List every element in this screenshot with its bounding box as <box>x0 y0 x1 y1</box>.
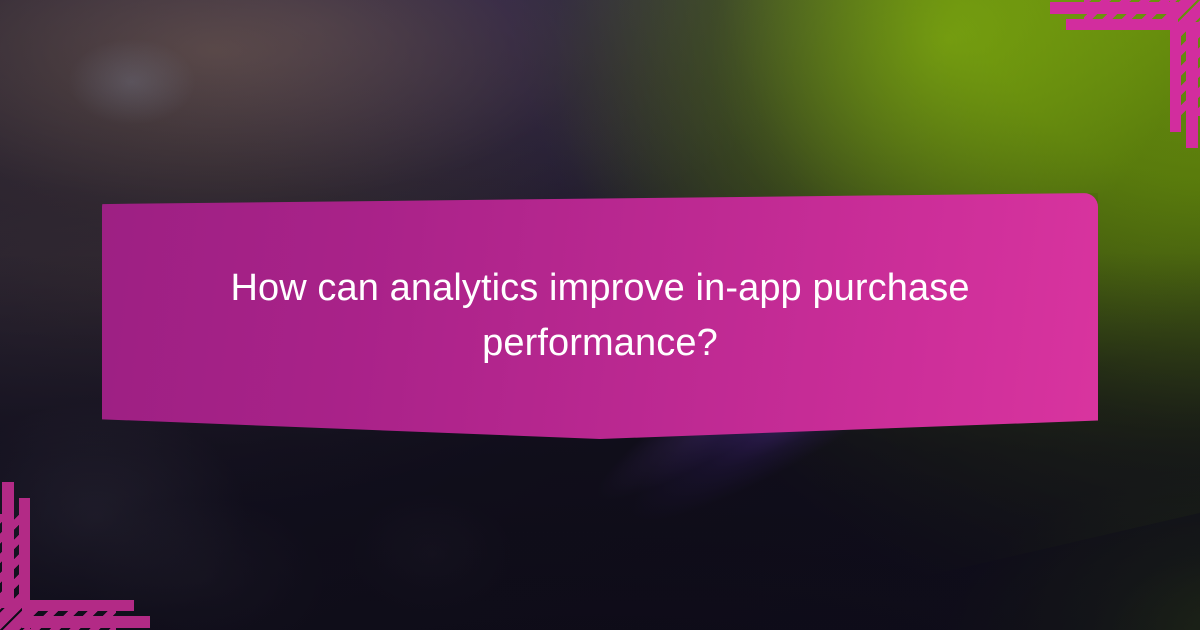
question-banner: How can analytics improve in-app purchas… <box>102 193 1098 439</box>
corner-bracket-top-right-icon <box>1040 0 1200 148</box>
bracket-bar-vertical-inner <box>19 498 30 608</box>
corner-bracket-bottom-left-icon <box>0 482 160 630</box>
bracket-bar-vertical-outer <box>2 482 14 608</box>
question-text: How can analytics improve in-app purchas… <box>190 261 1010 372</box>
bracket-bar-horizontal-inner <box>22 600 134 611</box>
bracket-hatch-horizontal-icon <box>0 600 116 630</box>
bracket-bar-vertical-outer <box>1186 22 1198 148</box>
question-card-graphic: How can analytics improve in-app purchas… <box>0 0 1200 630</box>
bracket-bar-horizontal-outer <box>22 616 150 628</box>
bracket-bar-horizontal-inner <box>1066 19 1178 30</box>
bracket-bar-vertical-inner <box>1170 22 1181 132</box>
bracket-hatch-horizontal-icon <box>1084 0 1200 30</box>
bracket-hatch-vertical-icon <box>1170 0 1200 116</box>
bracket-bar-horizontal-outer <box>1050 2 1178 14</box>
bracket-hatch-vertical-icon <box>0 514 30 630</box>
